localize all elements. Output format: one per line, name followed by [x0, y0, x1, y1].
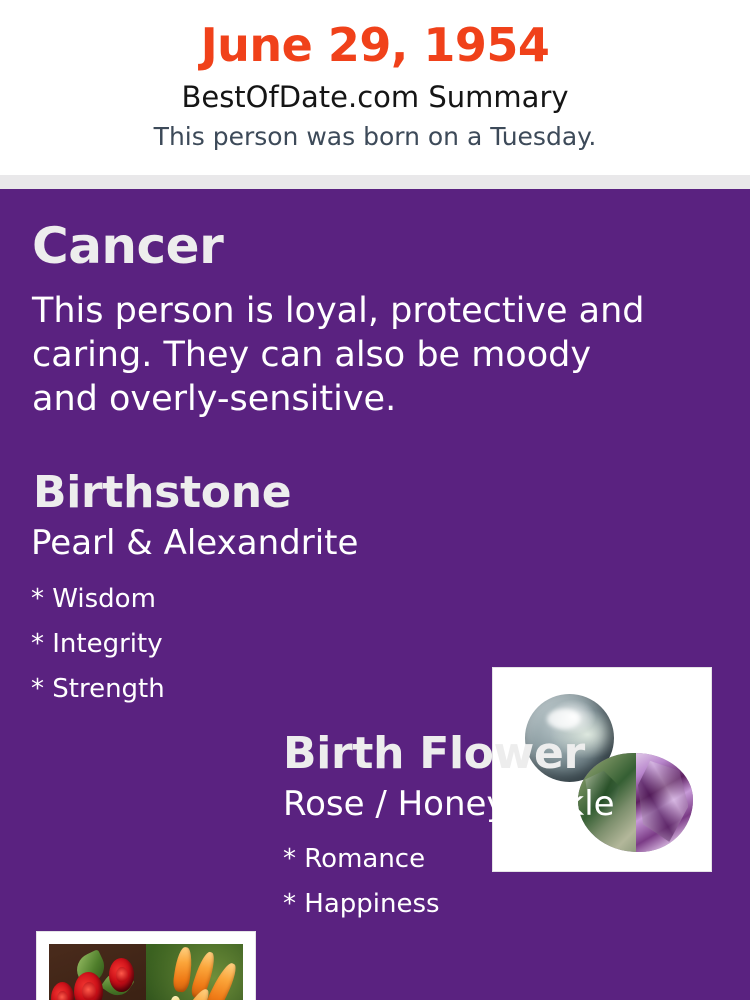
honeysuckle-bud-icon [171, 996, 180, 1000]
alexandrite-faceted-half-icon [636, 753, 693, 852]
rose-icon [51, 982, 74, 1000]
list-item: * Integrity [31, 622, 165, 667]
birthstone-names: Pearl & Alexandrite [31, 526, 358, 560]
site-name-summary: BestOfDate.com Summary [0, 68, 750, 112]
birthstone-traits-list: * Wisdom * Integrity * Strength [31, 577, 165, 712]
page-title-date: June 29, 1954 [0, 0, 750, 68]
header: June 29, 1954 BestOfDate.com Summary Thi… [0, 0, 750, 175]
birth-flower-names: Rose / Honeysuckle [283, 787, 615, 821]
infographic-card: June 29, 1954 BestOfDate.com Summary Thi… [0, 0, 750, 1000]
honeysuckle-icon [172, 947, 194, 994]
list-item: * Romance [283, 837, 440, 882]
roses-photo-half [49, 944, 146, 1000]
birth-flower-photo-card [36, 931, 256, 1000]
birth-flower-traits-list: * Romance * Happiness [283, 837, 440, 927]
list-item: * Happiness [283, 882, 440, 927]
list-item: * Wisdom [31, 577, 165, 622]
zodiac-description: This person is loyal, protective and car… [32, 289, 652, 421]
summary-panel: Cancer This person is loyal, protective … [0, 189, 750, 1000]
weekday-statement: This person was born on a Tuesday. [0, 112, 750, 149]
header-divider [0, 175, 750, 189]
birthstone-heading: Birthstone [33, 471, 291, 515]
honeysuckle-photo-half [146, 944, 243, 1000]
zodiac-sign-title: Cancer [32, 221, 223, 271]
birth-flower-photo [49, 944, 243, 1000]
birth-flower-heading: Birth Flower [283, 732, 585, 776]
list-item: * Strength [31, 667, 165, 712]
